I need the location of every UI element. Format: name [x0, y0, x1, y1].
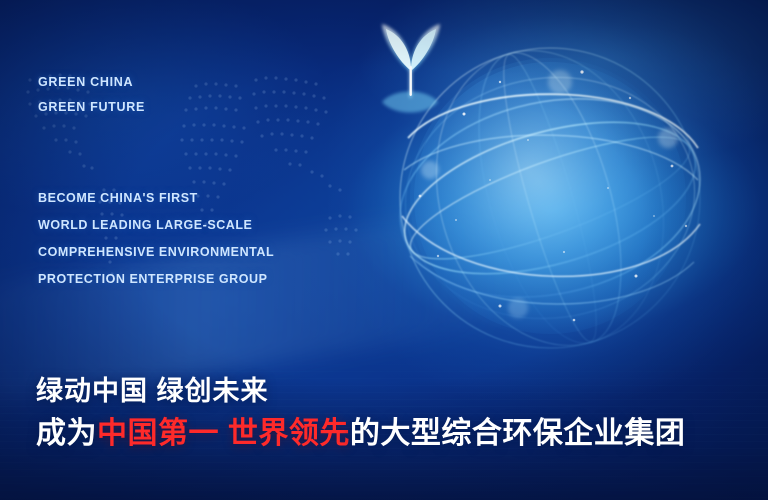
chinese-headline-line-2: 成为中国第一 世界领先的大型综合环保企业集团: [36, 415, 685, 453]
banner-image: GREEN CHINA GREEN FUTURE BECOME CHINA'S …: [0, 0, 768, 500]
chinese-headline-highlight: 中国第一 世界领先: [97, 417, 350, 450]
english-statement-line-1: BECOME CHINA'S FIRST: [38, 185, 274, 212]
english-tagline: GREEN CHINA GREEN FUTURE: [38, 70, 145, 120]
english-statement-line-3: COMPREHENSIVE ENVIRONMENTAL: [38, 239, 274, 266]
chinese-headline-prefix: 成为: [36, 417, 97, 450]
english-statement: BECOME CHINA'S FIRST WORLD LEADING LARGE…: [38, 185, 274, 293]
english-tagline-line-1: GREEN CHINA: [38, 70, 145, 95]
chinese-headline: 绿动中国 绿创未来 成为中国第一 世界领先的大型综合环保企业集团: [36, 375, 685, 452]
english-statement-line-4: PROTECTION ENTERPRISE GROUP: [38, 266, 274, 293]
english-tagline-line-2: GREEN FUTURE: [38, 95, 145, 120]
chinese-headline-line-1: 绿动中国 绿创未来: [36, 375, 685, 409]
chinese-headline-suffix: 的大型综合环保企业集团: [350, 417, 686, 450]
english-statement-line-2: WORLD LEADING LARGE-SCALE: [38, 212, 274, 239]
